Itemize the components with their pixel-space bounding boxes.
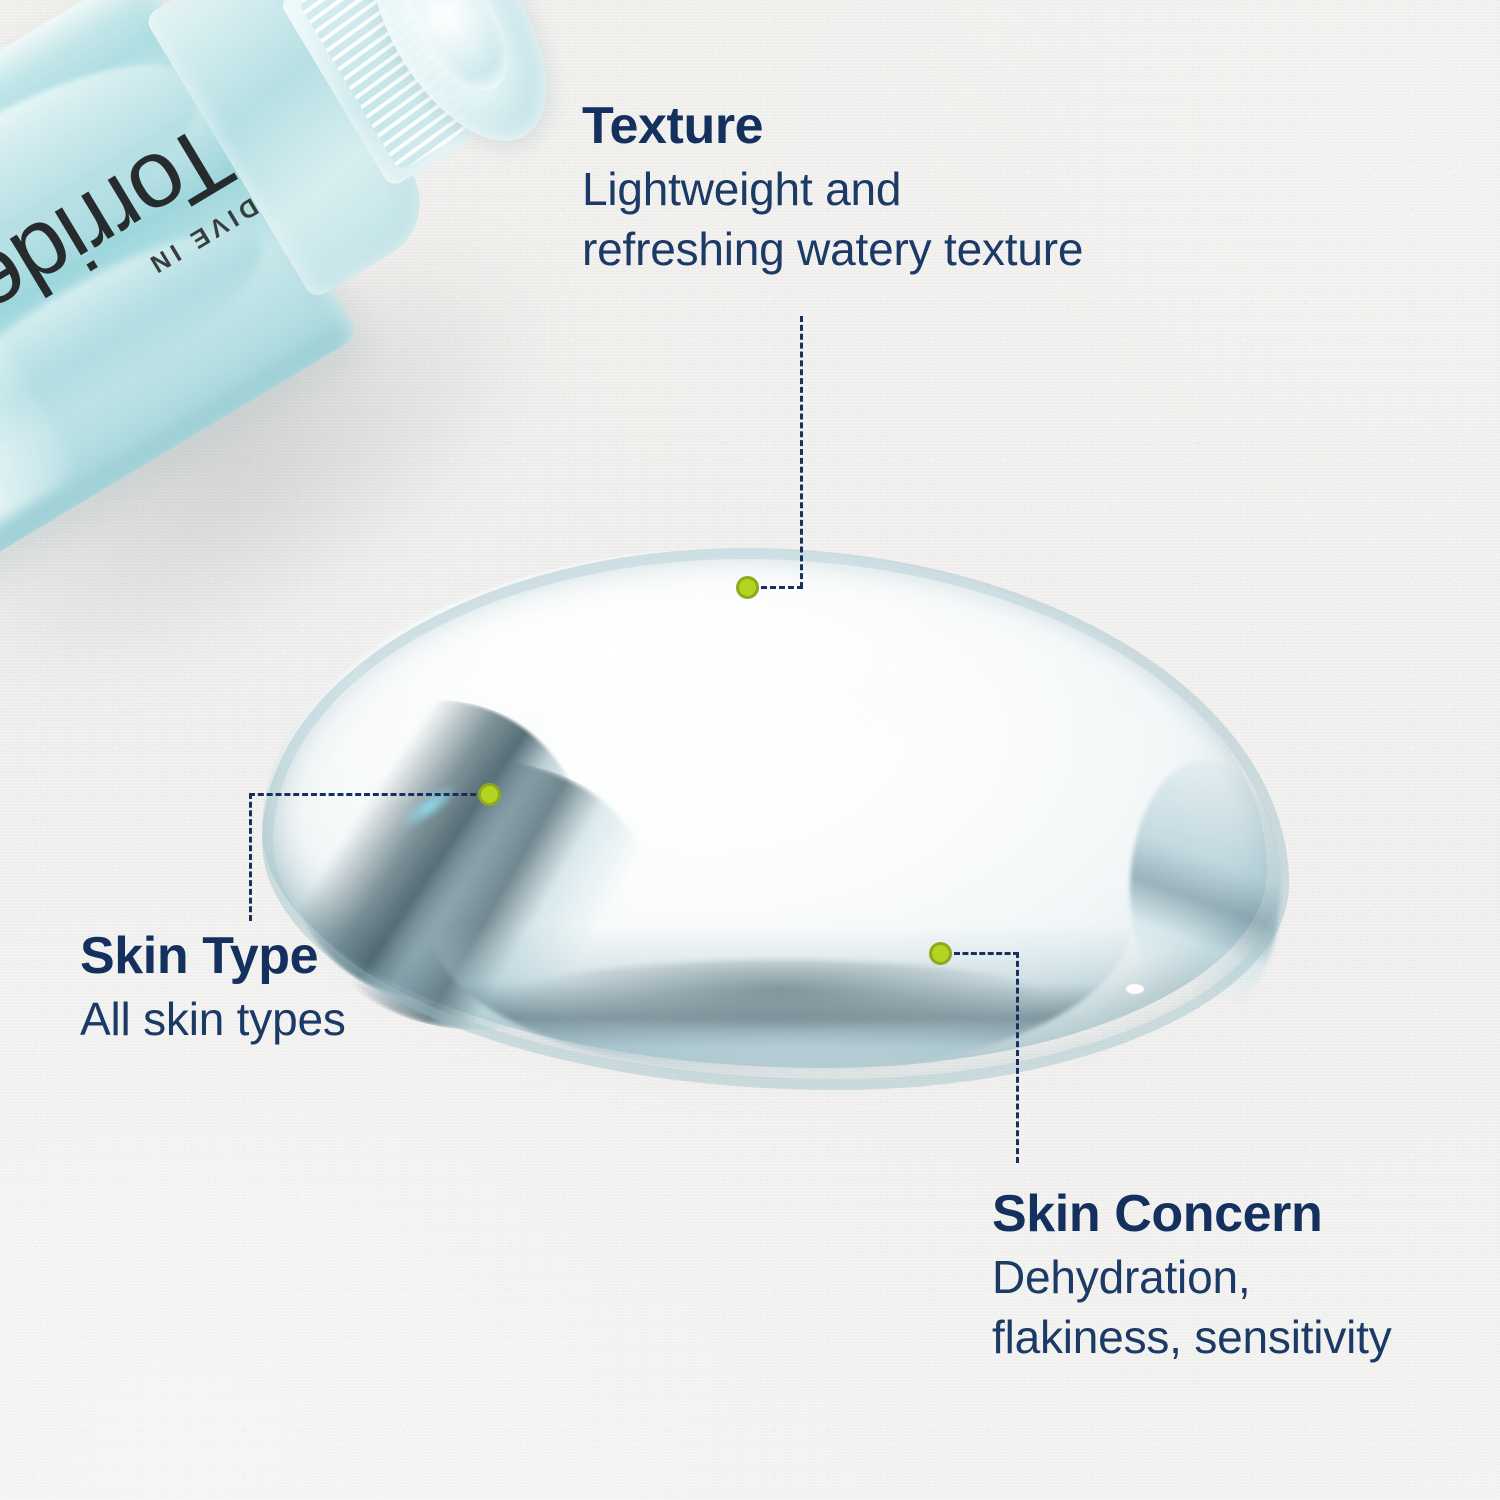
callout-marker-skin-concern[interactable] — [929, 942, 952, 965]
callout-skin-type-title: Skin Type — [80, 930, 600, 982]
callout-marker-texture[interactable] — [736, 576, 759, 599]
leader-line-texture-vertical — [800, 316, 803, 588]
callout-skin-concern: Skin Concern Dehydration, flakiness, sen… — [992, 1188, 1462, 1368]
callout-skin-concern-line-2: flakiness, sensitivity — [992, 1308, 1462, 1368]
callout-texture-title: Texture — [582, 100, 1222, 152]
callout-skin-type-line-1: All skin types — [80, 990, 600, 1050]
leader-line-concern-vertical — [1016, 952, 1019, 1163]
callout-skin-type: Skin Type All skin types — [80, 930, 600, 1050]
product-infographic: DIVE IN Torriden Texture Lightweight and… — [0, 0, 1500, 1500]
callout-texture-line-2: refreshing watery texture — [582, 220, 1222, 280]
callout-skin-concern-line-1: Dehydration, — [992, 1248, 1462, 1308]
leader-line-skintype-horizontal — [249, 793, 485, 796]
callout-texture: Texture Lightweight and refreshing water… — [582, 100, 1222, 280]
leader-line-concern-horizontal — [954, 952, 1019, 955]
callout-marker-skintype[interactable] — [478, 783, 501, 806]
callout-texture-line-1: Lightweight and — [582, 160, 1222, 220]
leader-line-skintype-vertical — [249, 793, 252, 921]
leader-line-texture-horizontal — [761, 586, 803, 589]
callout-skin-concern-title: Skin Concern — [992, 1188, 1462, 1240]
